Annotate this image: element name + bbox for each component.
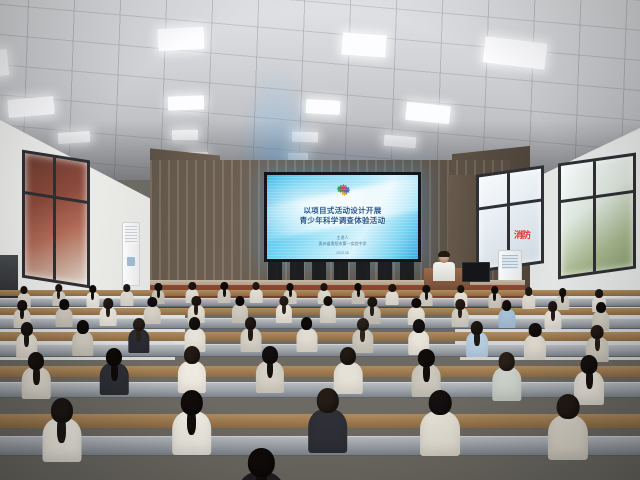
projection-screen-frame: ✸ 以项目式活动设计开展 青少年科学调查体验活动 主讲人 贵州省贵阳市第一实验中… [264, 172, 421, 262]
audience-person [256, 346, 284, 396]
person-head [106, 348, 122, 366]
ceiling-panel-light [341, 32, 386, 57]
person-head [287, 283, 294, 291]
person-head [248, 448, 274, 477]
person-head [355, 283, 362, 291]
audience-person [492, 352, 521, 404]
person-torso [56, 308, 73, 327]
audience-person [466, 321, 488, 360]
ceiling-panel-light [157, 27, 204, 51]
audience-person [120, 284, 133, 307]
audience-person [100, 298, 117, 328]
person-head [559, 288, 567, 297]
person-head [77, 320, 89, 334]
person-head [253, 282, 260, 290]
audience-person [420, 390, 460, 460]
person-head [548, 301, 558, 312]
person-torso [420, 411, 460, 456]
person-head [21, 322, 33, 336]
person-head [236, 296, 245, 306]
audience-person [238, 448, 285, 480]
projection-screen: ✸ 以项目式活动设计开展 青少年科学调查体验活动 主讲人 贵州省贵阳市第一实验中… [267, 175, 418, 259]
person-head [529, 323, 542, 337]
person-head [18, 300, 28, 311]
fire-safety-sign: 消防 [512, 228, 532, 242]
audience-person [544, 301, 561, 331]
ceiling [0, 0, 640, 180]
audience-person [172, 390, 212, 460]
audience-person [72, 320, 94, 358]
person-torso [308, 409, 348, 454]
right-window-outer [558, 153, 636, 280]
person-torso [386, 291, 399, 306]
audience-person [352, 283, 365, 305]
audience-desk [0, 366, 640, 377]
person-head [413, 319, 425, 333]
person-torso [120, 291, 133, 306]
person-head [456, 299, 466, 310]
audience-person [276, 296, 292, 325]
person-torso [498, 309, 515, 328]
person-head [502, 300, 512, 311]
person-head [104, 298, 114, 309]
person-head [591, 325, 604, 339]
person-head [181, 390, 203, 415]
person-head [60, 299, 70, 310]
person-head [21, 286, 28, 294]
person-head [280, 296, 289, 306]
audience-person [308, 388, 348, 458]
audience-person [296, 317, 317, 354]
audience-person [548, 394, 588, 465]
person-torso [548, 415, 588, 461]
person-torso [522, 294, 536, 309]
person-head [557, 394, 580, 419]
audience-person [22, 352, 51, 402]
person-head [340, 347, 356, 365]
lecture-hall-photo: 消防 ✸ 以项目式活动设计开展 青少年科学调查体验活动 主讲人 贵州省贵阳市第一… [0, 0, 640, 480]
audience-person [86, 285, 99, 308]
person-head [189, 317, 201, 330]
audience-person [218, 282, 231, 305]
person-head [418, 349, 434, 367]
audience-person [178, 346, 206, 396]
person-head [245, 317, 257, 330]
audience-area [0, 265, 640, 480]
person-head [317, 388, 339, 413]
screen-scanlines [267, 175, 418, 259]
audience-person [42, 398, 81, 467]
person-head [595, 289, 603, 298]
audience-person [386, 284, 399, 307]
person-torso [296, 328, 317, 352]
ceiling-panel-light [168, 95, 204, 110]
presenter-hair [438, 251, 450, 257]
person-torso [492, 367, 521, 400]
person-head [262, 346, 278, 364]
audience-person [100, 348, 129, 398]
audience-person [56, 299, 73, 329]
person-torso [250, 289, 263, 303]
person-head [28, 352, 44, 370]
person-head [581, 355, 598, 374]
person-torso [178, 361, 206, 393]
person-head [321, 283, 328, 291]
audience-person [524, 323, 546, 362]
person-torso [72, 331, 94, 355]
person-head [324, 296, 333, 306]
person-torso [320, 304, 336, 322]
person-head [596, 302, 606, 313]
person-head [301, 317, 313, 330]
audience-person [320, 296, 336, 325]
person-head [50, 398, 72, 423]
audience-person [250, 282, 263, 304]
ac-vent-icon [125, 226, 137, 244]
person-head [184, 346, 200, 364]
person-head [525, 287, 533, 296]
audience-person [128, 318, 149, 356]
person-head [498, 352, 515, 371]
person-head [471, 321, 483, 335]
person-head [429, 390, 452, 415]
audience-person [522, 287, 536, 311]
person-torso [524, 335, 546, 360]
audience-person [498, 300, 515, 330]
